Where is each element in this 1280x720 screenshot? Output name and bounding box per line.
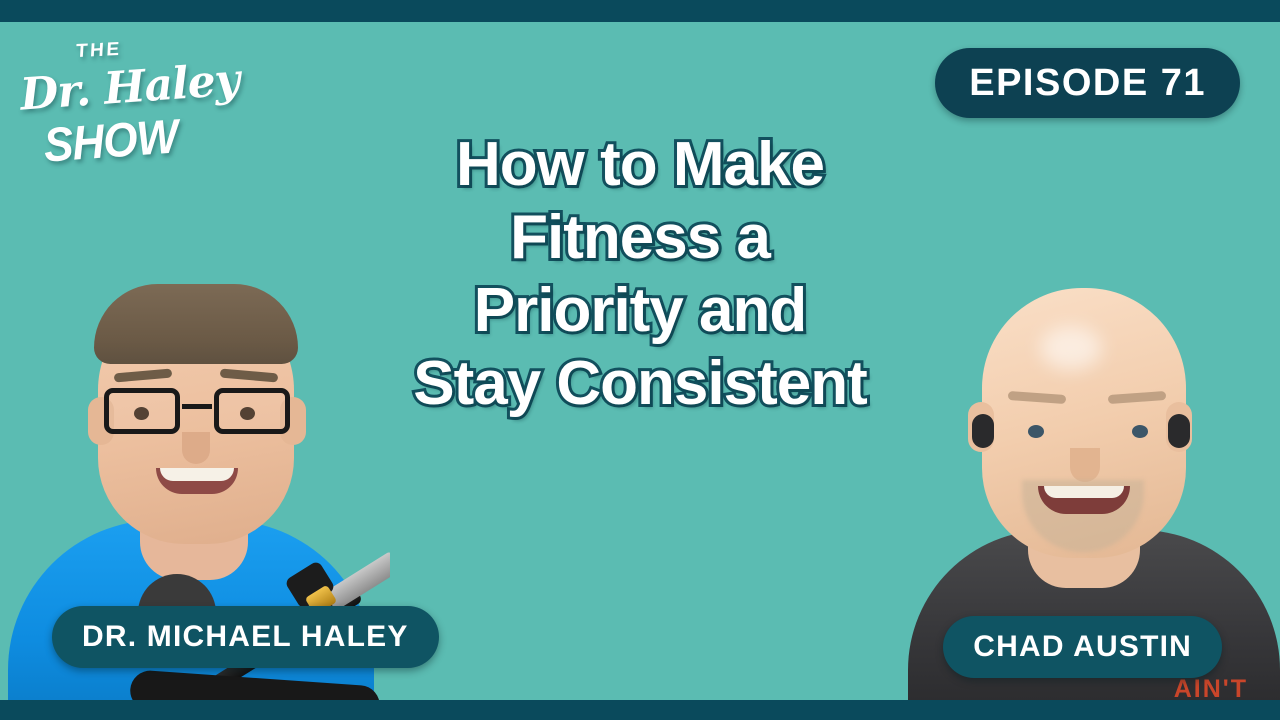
bottom-bar — [0, 700, 1280, 720]
host-glasses-icon — [102, 388, 292, 434]
show-logo[interactable]: THE Dr. Haley SHOW — [18, 40, 208, 170]
thumbnail-canvas: AIN'T THE Dr. Haley SHOW EPISODE 71 How … — [0, 0, 1280, 720]
title-line-2: Fitness a — [330, 201, 950, 274]
guest-name-label: CHAD AUSTIN — [973, 630, 1192, 664]
title-line-4: Stay Consistent — [330, 347, 950, 420]
guest-name-badge[interactable]: CHAD AUSTIN — [943, 616, 1222, 678]
episode-title: How to Make Fitness a Priority and Stay … — [330, 128, 950, 420]
guest-eye-left — [1028, 425, 1044, 438]
host-hair — [94, 284, 298, 364]
guest-eye-right — [1132, 425, 1148, 438]
glasses-lens-right — [214, 388, 290, 434]
host-name-badge[interactable]: DR. MICHAEL HALEY — [52, 606, 439, 668]
title-line-3: Priority and — [330, 274, 950, 347]
earbud-right-icon — [1168, 414, 1190, 448]
guest-teeth — [1044, 486, 1124, 498]
host-mouth — [156, 468, 238, 494]
glasses-lens-left — [104, 388, 180, 434]
glasses-bridge — [182, 404, 212, 409]
guest-mouth — [1038, 486, 1130, 514]
guest-head-highlight — [1040, 326, 1102, 370]
episode-badge[interactable]: EPISODE 71 — [935, 48, 1240, 118]
logo-show-text: SHOW — [42, 109, 179, 173]
host-nose — [182, 432, 210, 464]
title-line-1: How to Make — [330, 128, 950, 201]
host-teeth — [160, 468, 234, 481]
episode-label: EPISODE 71 — [969, 62, 1206, 105]
earbud-left-icon — [972, 414, 994, 448]
logo-the-text: THE — [75, 39, 122, 63]
guest-nose — [1070, 448, 1100, 482]
logo-name-text: Dr. Haley — [18, 54, 240, 120]
host-name-label: DR. MICHAEL HALEY — [82, 620, 409, 654]
top-bar — [0, 0, 1280, 22]
